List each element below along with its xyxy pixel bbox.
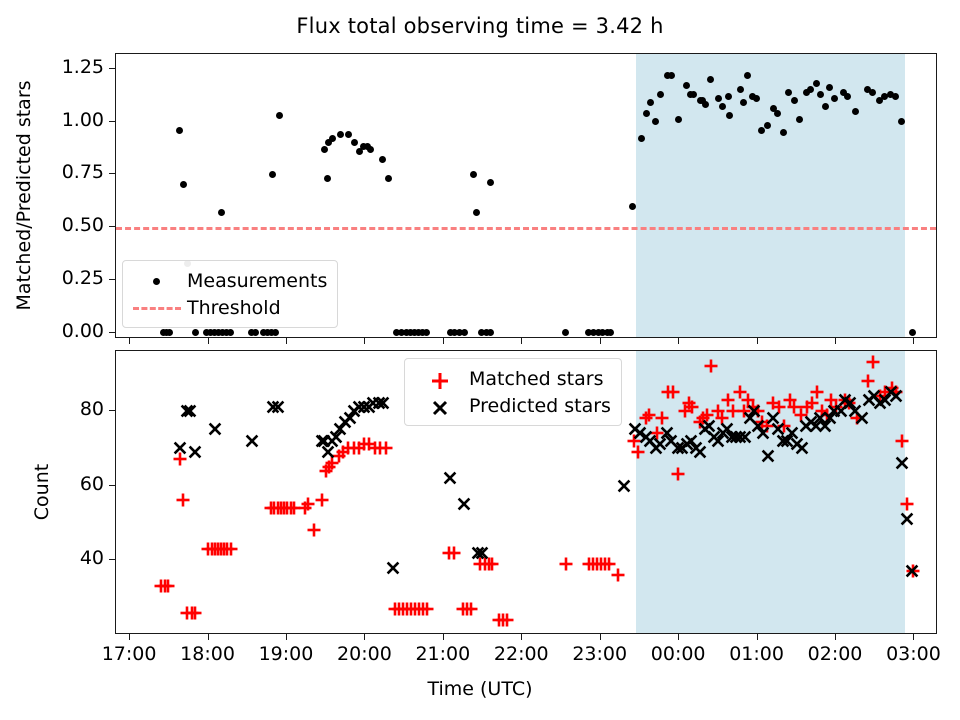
threshold-dashed-line-icon bbox=[131, 297, 183, 319]
x-axis-label: Time (UTC) bbox=[0, 678, 960, 700]
x-tick-label: 00:00 bbox=[633, 643, 723, 665]
measurement-point bbox=[869, 89, 876, 96]
measurement-point bbox=[643, 110, 650, 117]
measurement-point bbox=[461, 329, 468, 336]
x-tick-mark bbox=[364, 634, 365, 640]
measurement-point bbox=[166, 329, 173, 336]
x-tick-mark bbox=[443, 338, 444, 344]
y-tick-mark bbox=[109, 226, 115, 227]
measurement-point bbox=[813, 80, 820, 87]
measurement-point bbox=[329, 135, 336, 142]
x-tick-mark bbox=[757, 338, 758, 344]
figure-title: Flux total observing time = 3.42 h bbox=[0, 14, 960, 38]
plus-marker-icon bbox=[413, 368, 465, 390]
measurement-point bbox=[562, 329, 569, 336]
measurement-point bbox=[744, 72, 751, 79]
x-tick-label: 02:00 bbox=[790, 643, 880, 665]
legend-item-predicted-stars[interactable]: Predicted stars bbox=[413, 392, 611, 419]
measurement-point bbox=[272, 329, 279, 336]
measurement-point bbox=[780, 129, 787, 136]
legend-label-predicted-stars: Predicted stars bbox=[465, 395, 611, 417]
x-tick-mark bbox=[286, 634, 287, 640]
y-tick-mark bbox=[109, 121, 115, 122]
x-tick-mark bbox=[678, 338, 679, 344]
measurement-point bbox=[276, 112, 283, 119]
x-tick-mark bbox=[208, 634, 209, 640]
bottom-panel-legend: Matched stars Predicted stars bbox=[404, 358, 622, 426]
measurement-point bbox=[675, 116, 682, 123]
measurement-point bbox=[657, 91, 664, 98]
x-tick-mark bbox=[521, 338, 522, 344]
measurement-point bbox=[607, 329, 614, 336]
threshold-line bbox=[116, 227, 936, 230]
measurement-point bbox=[487, 179, 494, 186]
y-tick-mark bbox=[109, 173, 115, 174]
y-tick-mark bbox=[109, 410, 115, 411]
y-tick-label: 0.50 bbox=[62, 214, 104, 236]
y-tick-label: 1.00 bbox=[62, 109, 104, 131]
legend-item-matched-stars[interactable]: Matched stars bbox=[413, 365, 611, 392]
measurement-point bbox=[629, 203, 636, 210]
x-tick-mark bbox=[913, 634, 914, 640]
measurement-point bbox=[764, 122, 771, 129]
x-tick-mark bbox=[913, 338, 914, 344]
x-tick-label: 20:00 bbox=[319, 643, 409, 665]
measurement-point bbox=[487, 329, 494, 336]
legend-label-threshold: Threshold bbox=[183, 297, 281, 319]
measurement-point bbox=[892, 93, 899, 100]
measurement-point bbox=[817, 91, 824, 98]
measurement-point bbox=[227, 329, 234, 336]
measurement-point bbox=[345, 131, 352, 138]
y-tick-label: 0.00 bbox=[62, 320, 104, 342]
x-tick-mark bbox=[600, 338, 601, 344]
x-tick-label: 17:00 bbox=[84, 643, 174, 665]
y-tick-mark bbox=[109, 485, 115, 486]
y-tick-label: 0.25 bbox=[62, 267, 104, 289]
measurement-point bbox=[351, 139, 358, 146]
x-tick-mark bbox=[443, 634, 444, 640]
legend-item-threshold[interactable]: Threshold bbox=[131, 294, 327, 321]
measurement-point bbox=[791, 97, 798, 104]
shaded-interval-region bbox=[636, 54, 905, 337]
y-tick-label: 60 bbox=[80, 473, 104, 495]
top-panel-ylabel: Matched/Predicted stars bbox=[13, 80, 35, 310]
measurement-point bbox=[192, 329, 199, 336]
x-tick-label: 23:00 bbox=[555, 643, 645, 665]
y-tick-label: 1.25 bbox=[62, 56, 104, 78]
y-tick-mark bbox=[109, 332, 115, 333]
y-tick-label: 40 bbox=[80, 547, 104, 569]
measurement-point bbox=[638, 135, 645, 142]
figure-canvas: Flux total observing time = 3.42 h 0.000… bbox=[0, 0, 960, 720]
measurement-point bbox=[423, 329, 430, 336]
measurement-point bbox=[180, 181, 187, 188]
x-tick-mark bbox=[757, 634, 758, 640]
x-tick-mark bbox=[600, 634, 601, 640]
measurement-point bbox=[176, 127, 183, 134]
measurement-point bbox=[324, 175, 331, 182]
x-tick-mark bbox=[129, 338, 130, 344]
x-tick-label: 21:00 bbox=[398, 643, 488, 665]
measurement-point bbox=[252, 329, 259, 336]
x-tick-mark bbox=[129, 634, 130, 640]
x-tick-mark bbox=[678, 634, 679, 640]
measurement-point bbox=[473, 209, 480, 216]
x-tick-mark bbox=[835, 338, 836, 344]
measurement-point bbox=[898, 118, 905, 125]
measurement-point bbox=[690, 91, 697, 98]
measurement-point bbox=[707, 76, 714, 83]
x-tick-mark bbox=[208, 338, 209, 344]
x-tick-label: 18:00 bbox=[163, 643, 253, 665]
measurement-point bbox=[715, 95, 722, 102]
measurements-dot-icon bbox=[131, 270, 183, 292]
measurement-point bbox=[740, 99, 747, 106]
y-tick-mark bbox=[109, 279, 115, 280]
x-tick-label: 01:00 bbox=[712, 643, 802, 665]
measurement-point bbox=[726, 112, 733, 119]
measurement-point bbox=[668, 72, 675, 79]
measurement-point bbox=[725, 93, 732, 100]
legend-label-measurements: Measurements bbox=[183, 270, 327, 292]
measurement-point bbox=[647, 99, 654, 106]
y-tick-label: 0.75 bbox=[62, 161, 104, 183]
cross-marker-icon bbox=[413, 395, 465, 417]
x-tick-label: 03:00 bbox=[868, 643, 958, 665]
measurement-point bbox=[844, 93, 851, 100]
x-tick-label: 19:00 bbox=[241, 643, 331, 665]
measurement-point bbox=[379, 156, 386, 163]
x-tick-mark bbox=[835, 634, 836, 640]
measurement-point bbox=[385, 175, 392, 182]
measurement-point bbox=[321, 146, 328, 153]
y-tick-mark bbox=[109, 559, 115, 560]
x-tick-mark bbox=[286, 338, 287, 344]
measurement-point bbox=[337, 131, 344, 138]
measurement-point bbox=[683, 82, 690, 89]
measurement-point bbox=[269, 171, 276, 178]
legend-label-matched-stars: Matched stars bbox=[465, 368, 603, 390]
top-panel-legend: Measurements Threshold bbox=[122, 260, 338, 328]
x-tick-mark bbox=[364, 338, 365, 344]
measurement-point bbox=[852, 108, 859, 115]
x-tick-mark bbox=[521, 634, 522, 640]
legend-item-measurements[interactable]: Measurements bbox=[131, 267, 327, 294]
y-tick-label: 80 bbox=[80, 398, 104, 420]
measurement-point bbox=[909, 329, 916, 336]
measurement-point bbox=[822, 103, 829, 110]
bottom-panel-ylabel: Count bbox=[31, 464, 53, 520]
measurement-point bbox=[218, 209, 225, 216]
y-tick-mark bbox=[109, 68, 115, 69]
x-tick-label: 22:00 bbox=[476, 643, 566, 665]
measurement-point bbox=[470, 171, 477, 178]
measurement-point bbox=[367, 146, 374, 153]
measurement-point bbox=[831, 95, 838, 102]
